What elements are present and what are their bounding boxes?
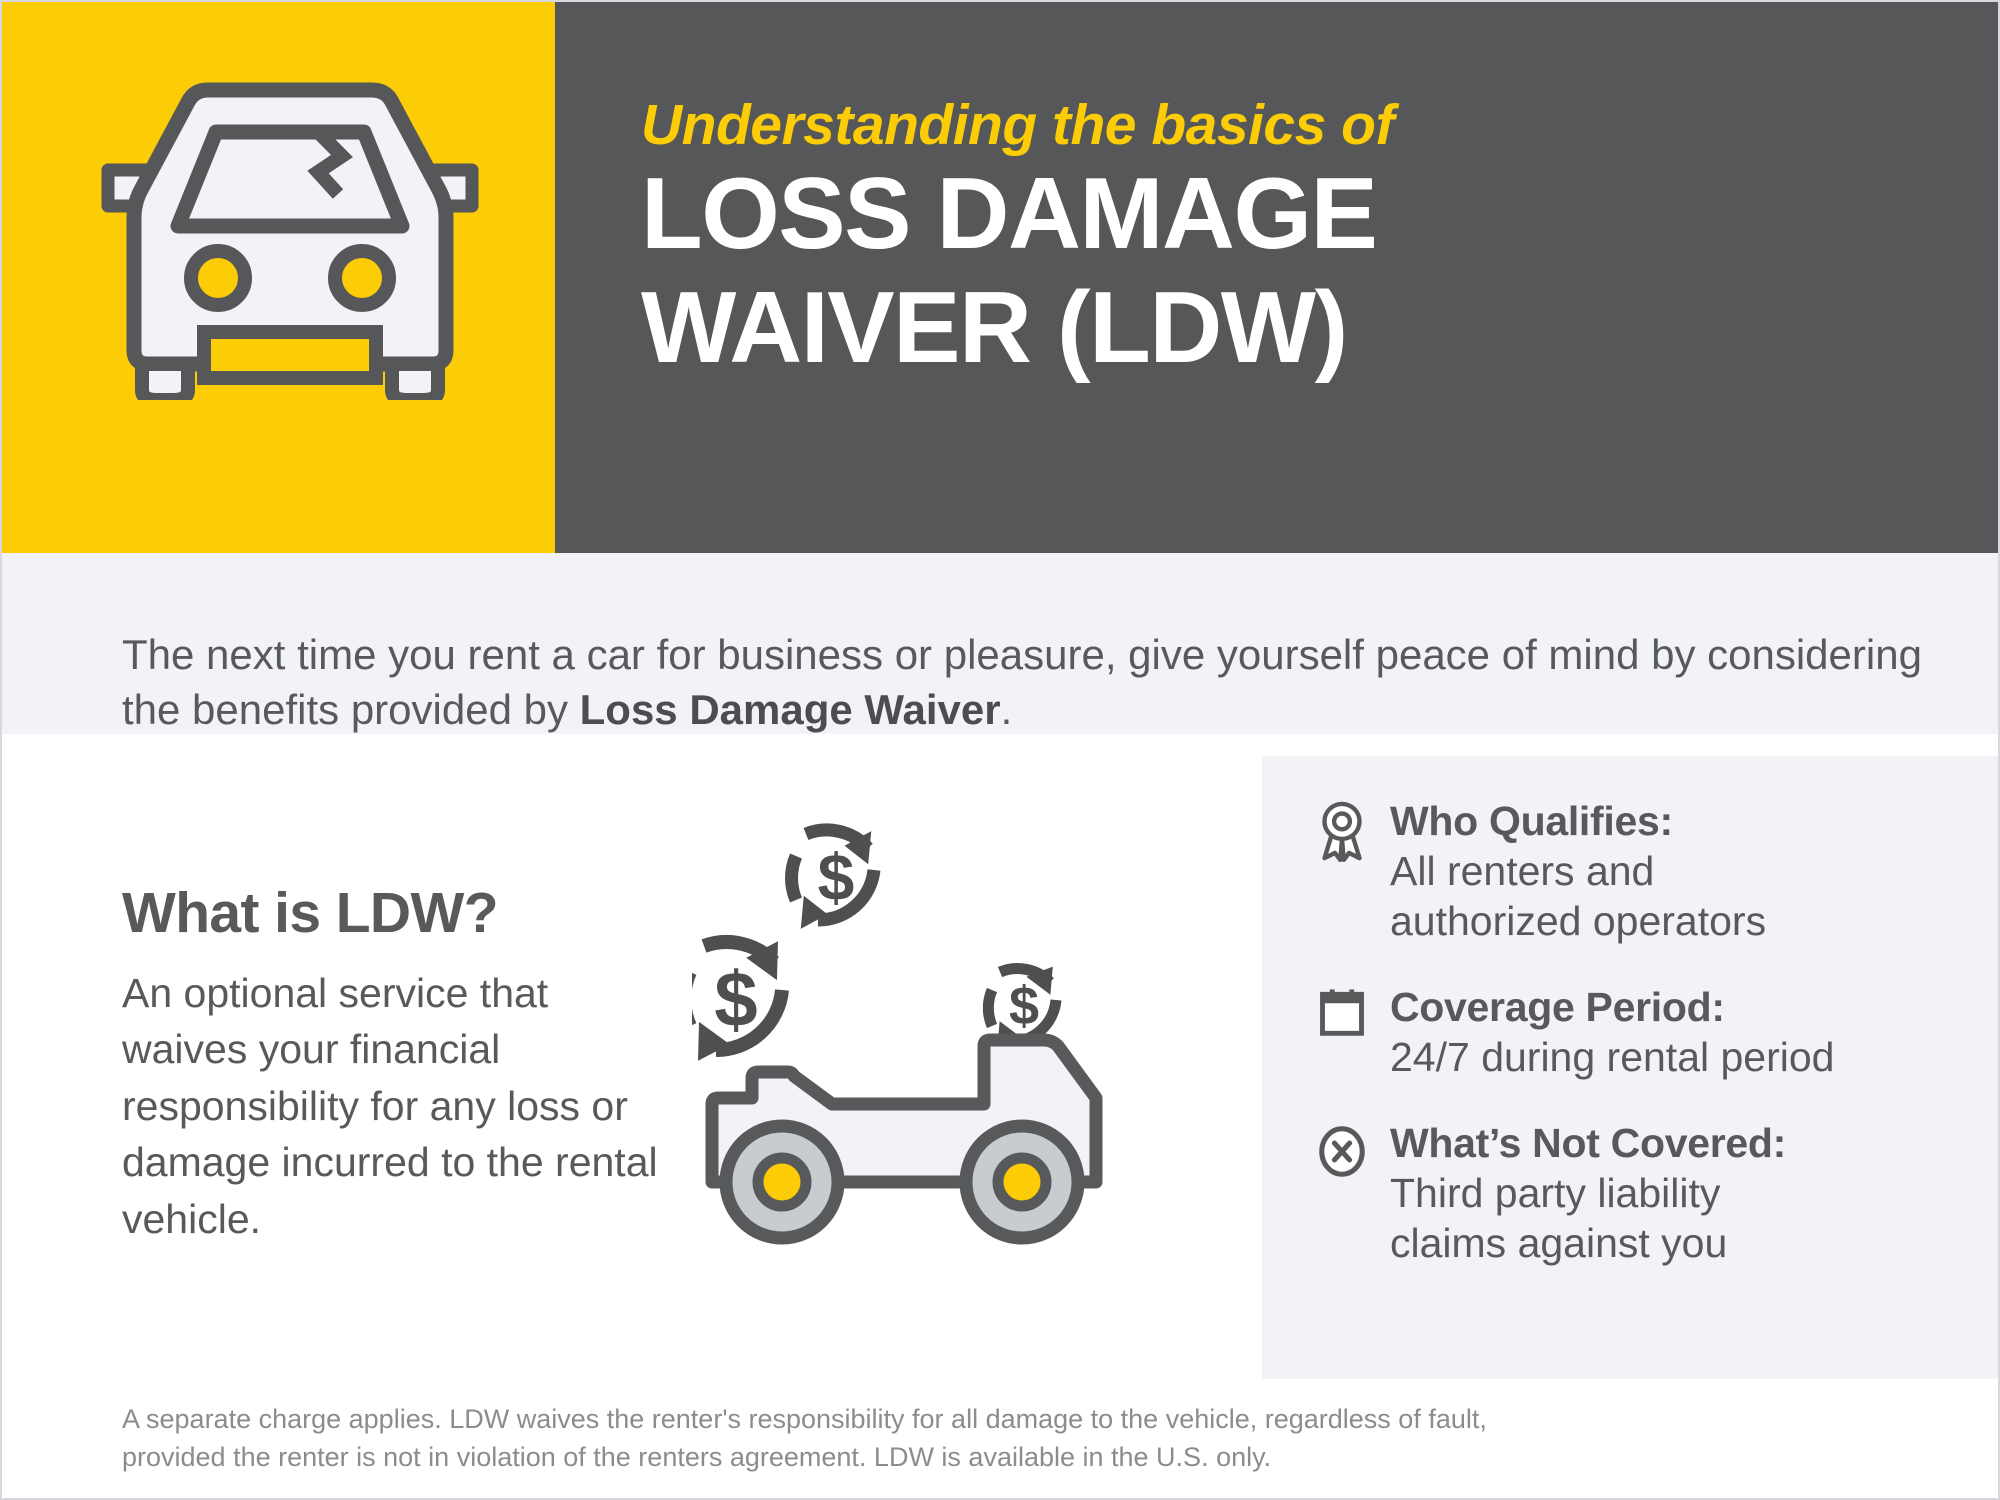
x-circle-icon bbox=[1306, 1118, 1378, 1184]
svg-text:$: $ bbox=[714, 955, 757, 1043]
what-is-ldw-block: What is LDW? An optional service that wa… bbox=[122, 882, 662, 1248]
fact-label: What’s Not Covered: bbox=[1390, 1118, 1972, 1168]
fact-who-qualifies: Who Qualifies: All renters and authorize… bbox=[1306, 796, 1972, 946]
calendar-icon bbox=[1306, 982, 1378, 1048]
footer: A separate charge applies. LDW waives th… bbox=[2, 1380, 2000, 1500]
pickup-truck-with-money-cycle-icons: $ $ bbox=[692, 804, 1252, 1364]
fact-label: Coverage Period: bbox=[1390, 982, 1972, 1032]
svg-text:$: $ bbox=[1009, 976, 1039, 1036]
footer-line-2: provided the renter is not in violation … bbox=[122, 1438, 1912, 1476]
header-icon-panel bbox=[2, 2, 555, 553]
fact-text: Who Qualifies: All renters and authorize… bbox=[1378, 796, 1972, 946]
fact-value-line-1: All renters and bbox=[1390, 846, 1972, 896]
fact-value-line-1: 24/7 during rental period bbox=[1390, 1032, 1972, 1082]
money-refresh-icon: $ bbox=[692, 932, 796, 1070]
fact-value-line-2: authorized operators bbox=[1390, 896, 1972, 946]
page-title-line-1: LOSS DAMAGE bbox=[641, 157, 1376, 271]
fact-coverage-period: Coverage Period: 24/7 during rental peri… bbox=[1306, 982, 1972, 1082]
damaged-car-front-icon bbox=[80, 60, 500, 400]
intro-emphasis: Loss Damage Waiver bbox=[580, 686, 1001, 733]
award-ribbon-icon bbox=[1306, 796, 1378, 862]
fact-text: What’s Not Covered: Third party liabilit… bbox=[1378, 1118, 1972, 1268]
fact-value-line-1: Third party liability bbox=[1390, 1168, 1972, 1218]
what-is-ldw-body: An optional service that waives your fin… bbox=[122, 965, 662, 1248]
page-title: LOSS DAMAGE WAIVER (LDW) bbox=[641, 157, 1376, 385]
infographic-page: Understanding the basics of LOSS DAMAGE … bbox=[0, 0, 2000, 1500]
intro-paragraph: The next time you rent a car for busines… bbox=[122, 627, 1962, 738]
money-refresh-icon: $ bbox=[787, 824, 886, 937]
fact-label: Who Qualifies: bbox=[1390, 796, 1972, 846]
footer-disclaimer: A separate charge applies. LDW waives th… bbox=[122, 1400, 1912, 1477]
fact-whats-not-covered: What’s Not Covered: Third party liabilit… bbox=[1306, 1118, 1972, 1268]
footer-line-1: A separate charge applies. LDW waives th… bbox=[122, 1400, 1912, 1438]
intro-band: The next time you rent a car for busines… bbox=[2, 553, 2000, 734]
intro-part-1: The next time you rent a car for busines… bbox=[122, 631, 1922, 733]
header-title-panel: Understanding the basics of LOSS DAMAGE … bbox=[555, 2, 2000, 553]
pickup-truck-side-icon bbox=[712, 1040, 1096, 1238]
facts-panel: Who Qualifies: All renters and authorize… bbox=[1262, 756, 2000, 1379]
fact-value-line-2: claims against you bbox=[1390, 1218, 1972, 1268]
page-title-line-2: WAIVER (LDW) bbox=[641, 271, 1376, 385]
svg-text:$: $ bbox=[818, 840, 855, 914]
header-eyebrow: Understanding the basics of bbox=[641, 92, 1394, 158]
intro-part-2: . bbox=[1001, 686, 1013, 733]
header: Understanding the basics of LOSS DAMAGE … bbox=[2, 2, 2000, 553]
fact-text: Coverage Period: 24/7 during rental peri… bbox=[1378, 982, 1972, 1082]
main-content: What is LDW? An optional service that wa… bbox=[2, 734, 2000, 1380]
what-is-ldw-heading: What is LDW? bbox=[122, 882, 662, 945]
